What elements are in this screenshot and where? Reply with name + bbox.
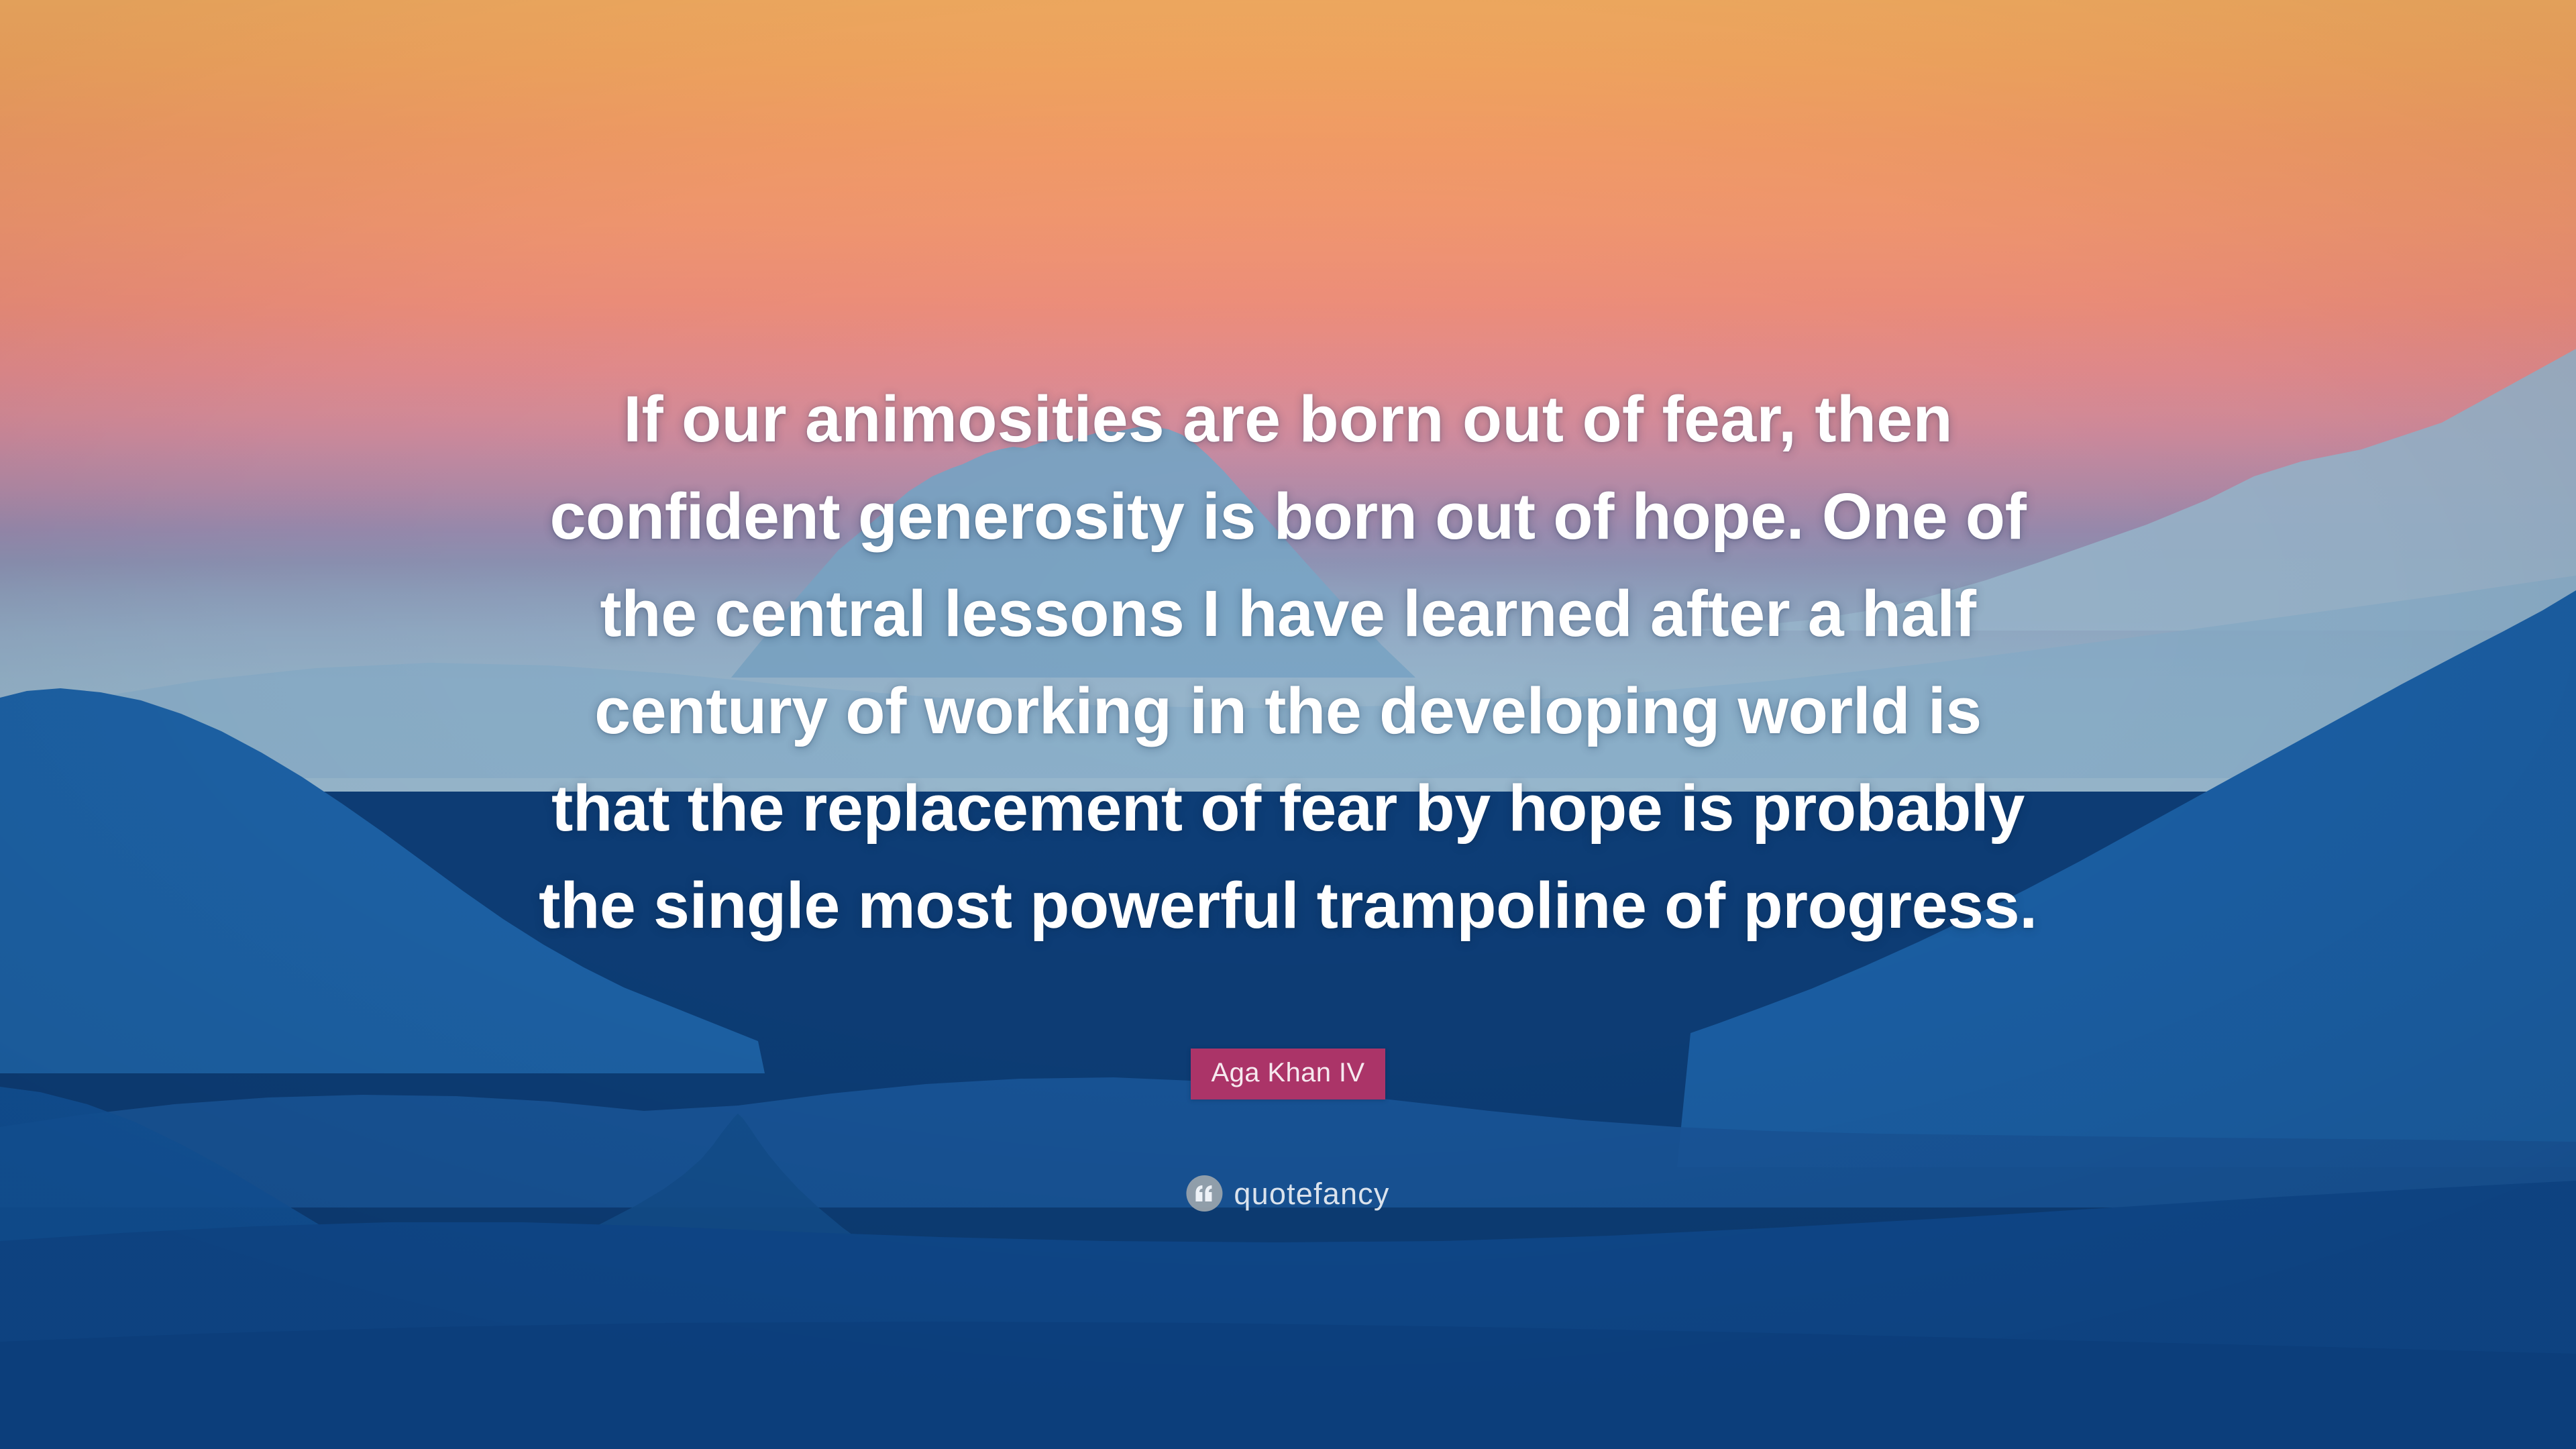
quote-line-1: If our animosities are born out of fear,… (443, 370, 2133, 468)
quote-line-3: the central lessons I have learned after… (443, 565, 2133, 662)
quote-line-6: the single most powerful trampoline of p… (443, 857, 2133, 954)
quotefancy-brand-label: quotefancy (1234, 1179, 1389, 1209)
author-badge[interactable]: Aga Khan IV (1191, 1049, 1385, 1099)
quote-line-5: that the replacement of fear by hope is … (443, 759, 2133, 857)
quote-line-4: century of working in the developing wor… (443, 662, 2133, 759)
quotefancy-watermark[interactable]: quotefancy (1186, 1175, 1389, 1212)
ridge-layer-foreground-darkest (0, 1275, 2576, 1449)
quote-poster: If our animosities are born out of fear,… (0, 0, 2576, 1449)
quote-text: If our animosities are born out of fear,… (443, 370, 2133, 954)
quote-line-2: confident generosity is born out of hope… (443, 468, 2133, 565)
quote-mark-icon (1186, 1175, 1222, 1212)
